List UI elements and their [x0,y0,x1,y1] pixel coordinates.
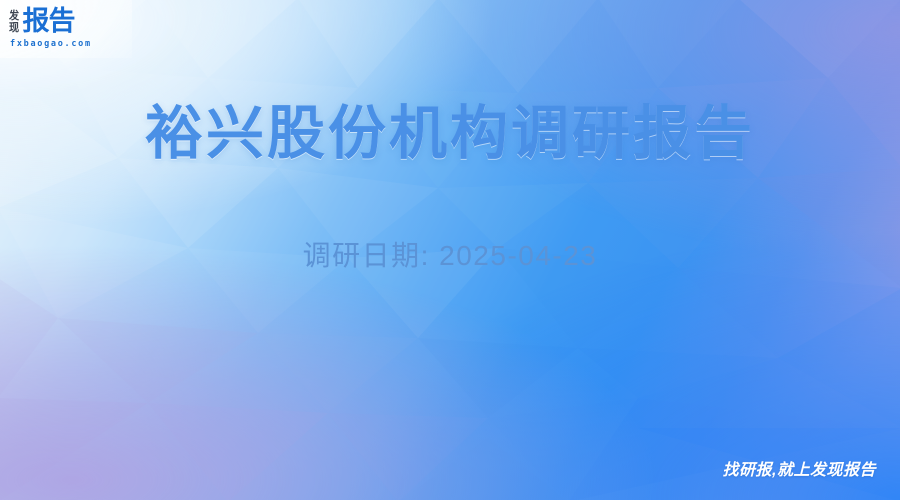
site-logo[interactable]: 发 现 报告 [9,9,75,35]
logo-wordmark: 报告 [23,9,75,35]
logo-mark: 发 现 [9,11,20,34]
logo-mark-char-top: 发 [9,11,19,22]
page-title: 裕兴股份机构调研报告 [0,86,900,170]
logo-url: fxbaogao.com [10,39,92,49]
footer-tagline: 找研报,就上发现报告 [723,456,876,480]
logo-mark-char-bottom: 现 [9,23,19,34]
page-subtitle: 调研日期: 2025-04-23 [0,234,900,274]
report-cover: 发 现 报告 fxbaogao.com 裕兴股份机构调研报告 调研日期: 202… [0,0,900,500]
